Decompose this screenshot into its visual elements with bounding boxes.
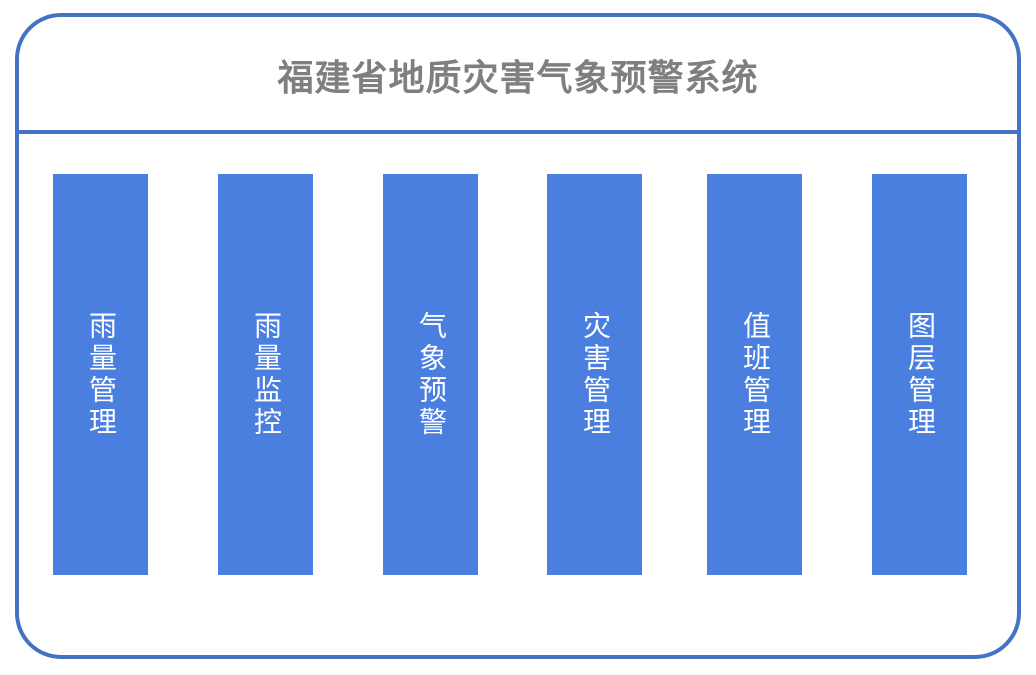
system-title: 福建省地质灾害气象预警系统 <box>277 49 758 101</box>
module-bar-rainfall-management[interactable]: 雨量管理 <box>53 174 148 575</box>
diagram-canvas: 福建省地质灾害气象预警系统 雨量管理 雨量监控 气象预警 灾害管理 值班管理 图… <box>0 0 1036 675</box>
module-bar-weather-warning[interactable]: 气象预警 <box>383 174 478 575</box>
module-bar-disaster-management[interactable]: 灾害管理 <box>547 174 642 575</box>
module-label: 雨量监控 <box>247 311 284 439</box>
module-label: 图层管理 <box>901 311 938 439</box>
module-bar-duty-management[interactable]: 值班管理 <box>707 174 802 575</box>
module-label: 气象预警 <box>412 311 449 439</box>
module-label: 灾害管理 <box>576 311 613 439</box>
module-label: 雨量管理 <box>82 311 119 439</box>
title-band: 福建省地质灾害气象预警系统 <box>19 17 1017 133</box>
module-label: 值班管理 <box>736 311 773 439</box>
module-bar-rainfall-monitoring[interactable]: 雨量监控 <box>218 174 313 575</box>
module-bar-layer-management[interactable]: 图层管理 <box>872 174 967 575</box>
header-divider <box>17 130 1019 134</box>
module-bars-container: 雨量管理 雨量监控 气象预警 灾害管理 值班管理 图层管理 <box>53 174 967 575</box>
